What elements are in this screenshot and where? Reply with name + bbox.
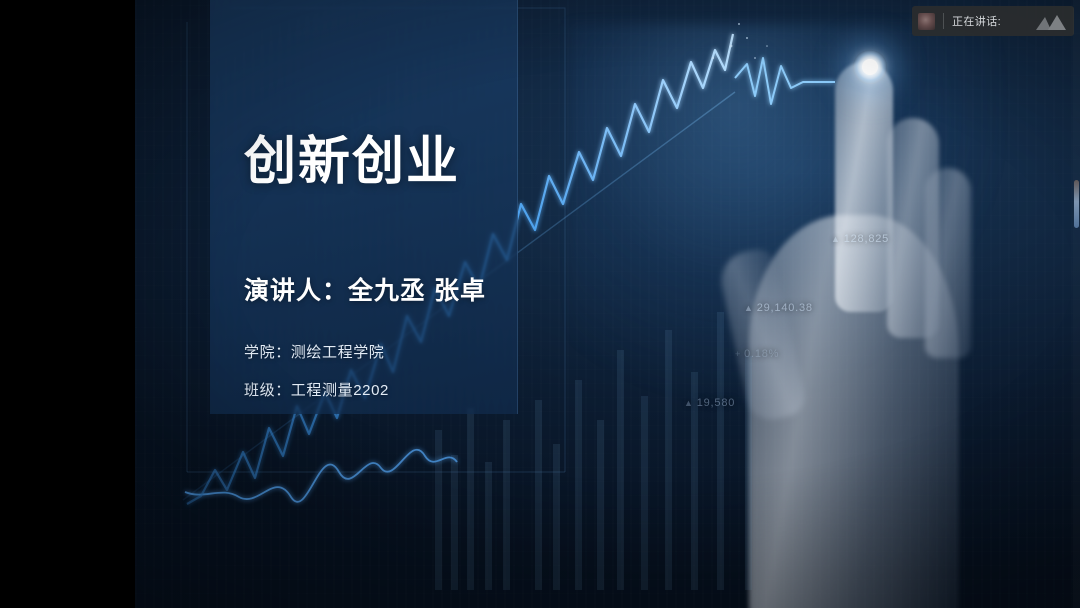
chart-value-text: 128,825: [844, 233, 889, 245]
chart-value-text: 29,140.38: [757, 302, 813, 314]
slide-presenter: 演讲人：全九丞 张卓: [244, 271, 486, 307]
chart-lower-wave: [185, 450, 457, 502]
slide-college: 学院：测绘工程学院: [244, 341, 384, 362]
letterbox-left: [0, 0, 135, 608]
scrollbar-track[interactable]: [1073, 0, 1080, 608]
mountain-image-icon: [1034, 10, 1068, 32]
shared-slide-video[interactable]: ▲128,825 ▲29,140.38 +0.18% ▲19,580 创新创业 …: [135, 0, 1080, 608]
triangle-up-icon: ▲: [684, 398, 694, 408]
chart-value-text: 19,580: [697, 397, 735, 409]
slide-class: 班级：工程测量2202: [244, 379, 389, 400]
speaking-status-label: 正在讲话:: [952, 13, 1034, 29]
scrollbar-thumb[interactable]: [1074, 180, 1079, 228]
screen-root: ▲128,825 ▲29,140.38 +0.18% ▲19,580 创新创业 …: [0, 0, 1080, 608]
slide-title-panel: 创新创业 演讲人：全九丞 张卓 学院：测绘工程学院 班级：工程测量2202: [210, 0, 518, 414]
plus-icon: +: [735, 349, 741, 359]
chart-peak-zigzag: [735, 58, 835, 104]
slide-title: 创新创业: [244, 134, 460, 191]
chart-value-label: ▲29,140.38: [744, 302, 813, 314]
chart-value-label: +0.18%: [735, 348, 779, 360]
triangle-up-icon: ▲: [831, 234, 841, 244]
chart-sparkles: [712, 23, 768, 59]
avatar: [918, 13, 935, 30]
chart-value-label: ▲128,825: [831, 233, 889, 245]
active-speaker-bar[interactable]: 正在讲话:: [912, 6, 1074, 36]
divider: [943, 13, 944, 29]
chart-value-label: ▲19,580: [684, 397, 735, 409]
chart-value-text: 0.18%: [744, 348, 779, 360]
triangle-up-icon: ▲: [744, 303, 754, 313]
fingertip-glow-core: [862, 59, 878, 75]
